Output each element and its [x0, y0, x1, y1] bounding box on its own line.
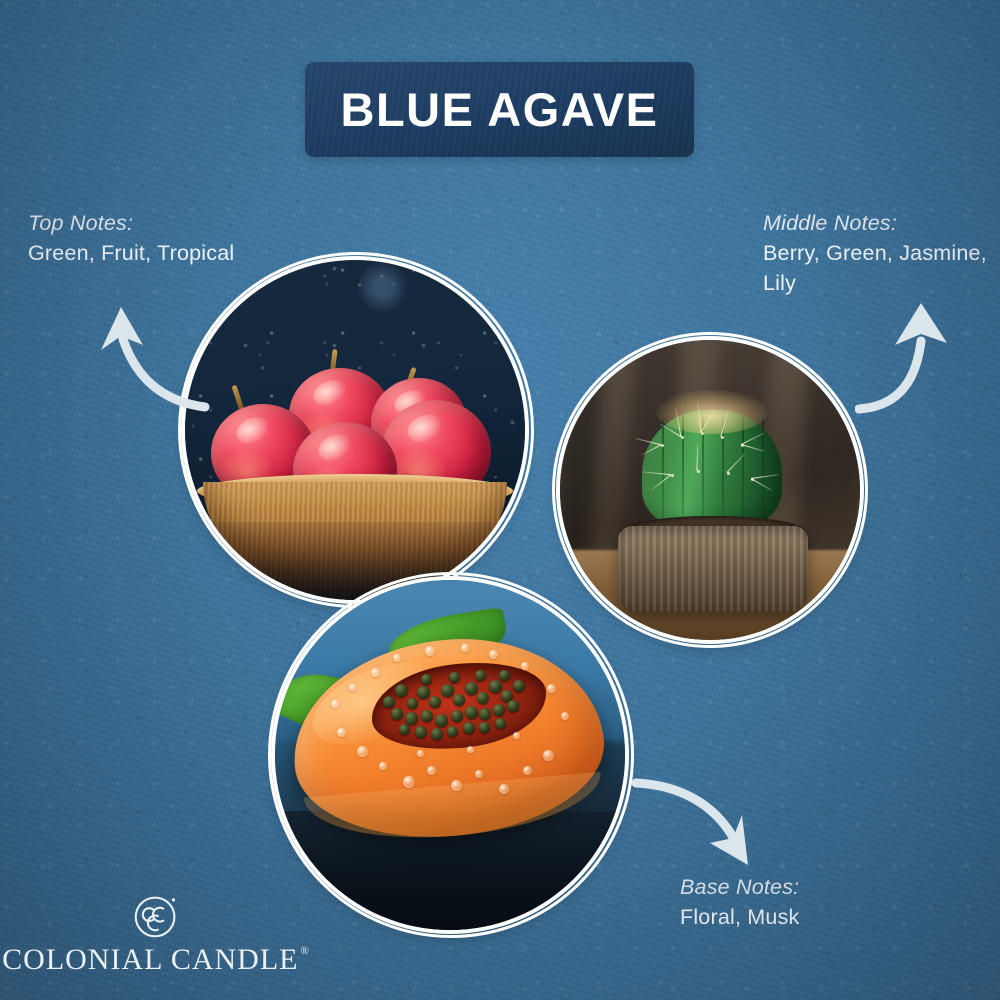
- middle-notes-values: Berry, Green, Jasmine, Lily: [763, 238, 995, 298]
- brand-logo: COLONIAL CANDLE ®: [26, 893, 286, 985]
- middle-notes-label: Middle Notes: Berry, Green, Jasmine, Lil…: [763, 208, 995, 298]
- base-notes-heading: Base Notes:: [680, 872, 910, 902]
- base-notes-label: Base Notes: Floral, Musk: [680, 872, 910, 932]
- brand-wordmark: COLONIAL CANDLE ®: [2, 943, 310, 977]
- top-notes-heading: Top Notes:: [28, 208, 348, 238]
- photo-papaya: [275, 580, 625, 930]
- registered-mark: ®: [301, 946, 310, 957]
- brand-name: COLONIAL CANDLE: [2, 943, 298, 977]
- page-title: BLUE AGAVE: [341, 82, 659, 137]
- top-notes-label: Top Notes: Green, Fruit, Tropical: [28, 208, 348, 268]
- photo-apples: [185, 260, 525, 600]
- cactus-crown-glow: [656, 390, 768, 434]
- title-banner: BLUE AGAVE: [305, 62, 694, 157]
- base-notes-values: Floral, Musk: [680, 902, 910, 932]
- wooden-pot: [618, 526, 808, 612]
- middle-notes-heading: Middle Notes:: [763, 208, 995, 238]
- colonial-candle-monogram-icon: [133, 893, 179, 939]
